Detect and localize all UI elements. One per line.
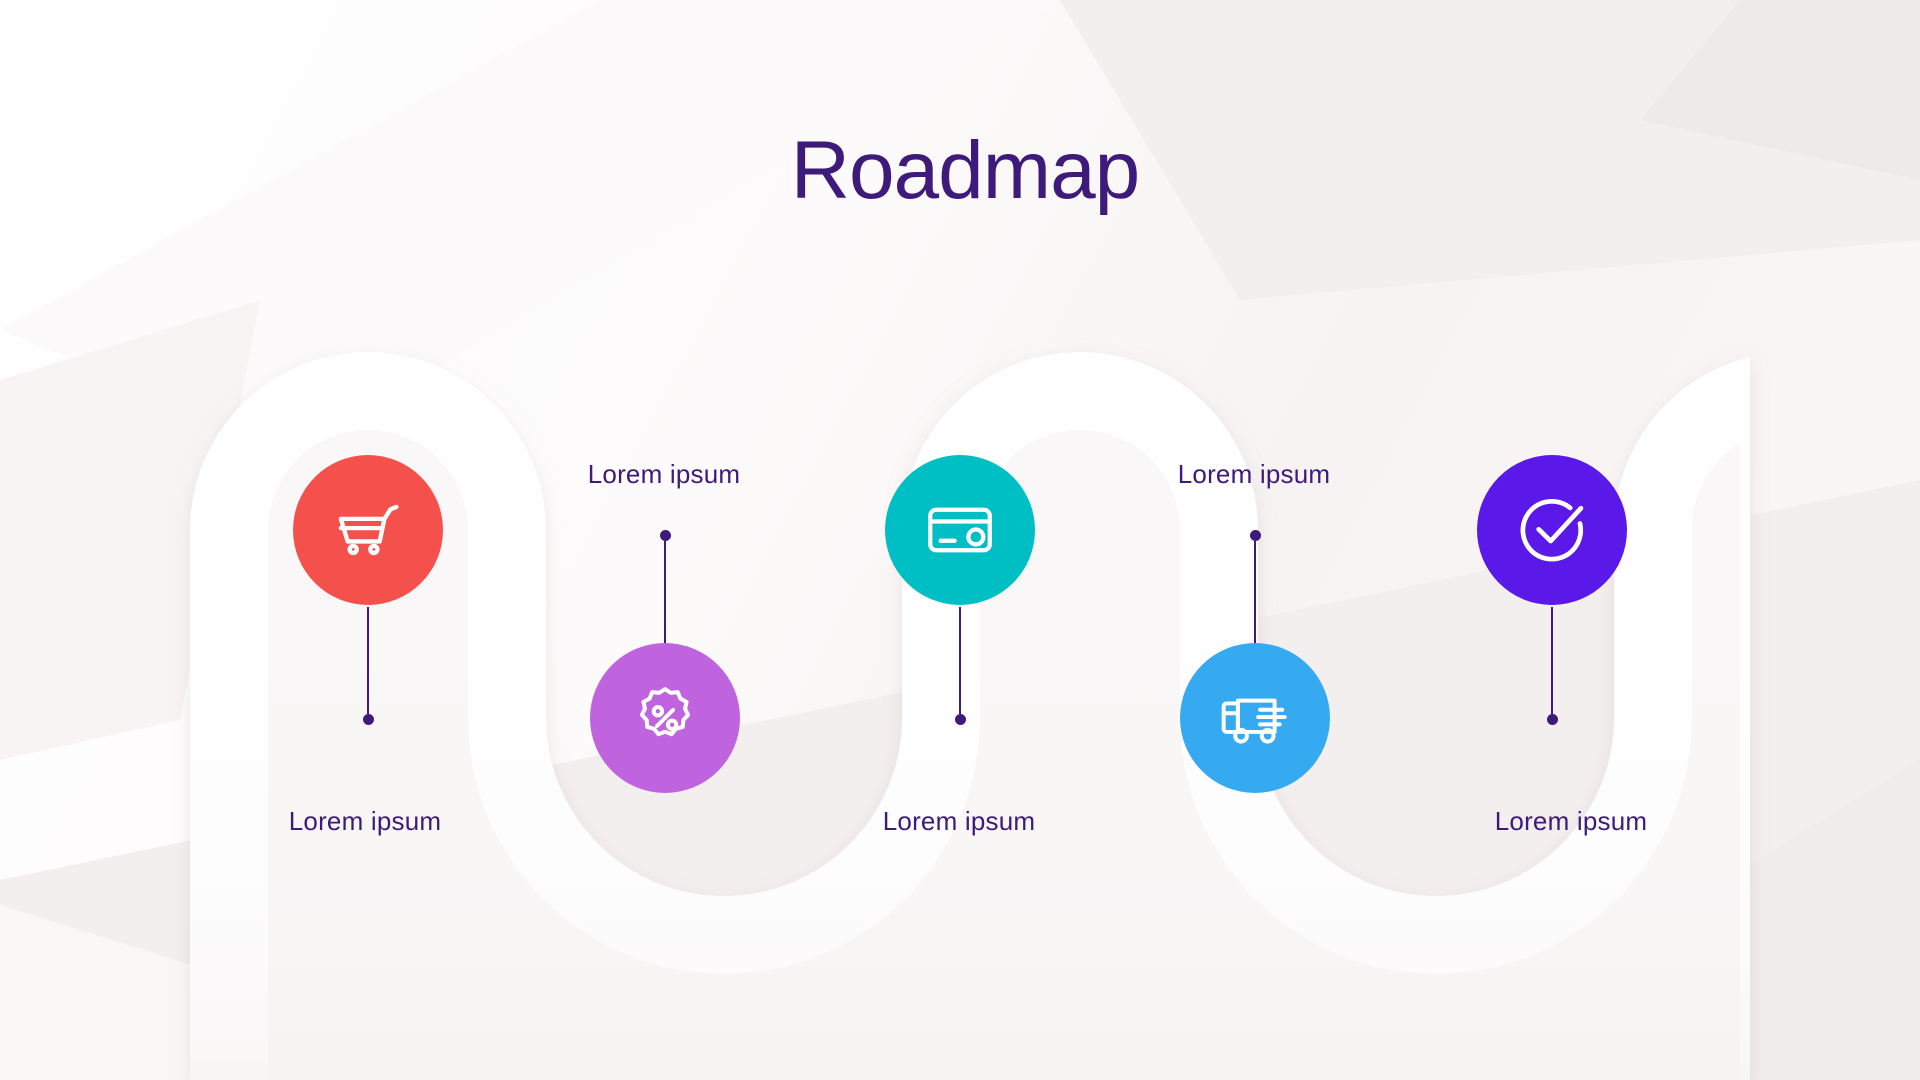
connector-stem [959,607,961,714]
connector-5 [1546,607,1558,725]
step-label-5: Lorem ipsum [1495,806,1647,837]
connector-4 [1249,530,1261,652]
step-label-3: Lorem ipsum [883,806,1035,837]
step-label-1: Lorem ipsum [289,806,441,837]
connector-stem [1551,607,1553,714]
shopping-cart-icon [331,493,405,567]
connector-dot [1547,714,1558,725]
credit-card-icon [922,492,998,568]
roadmap-slide: Roadmap Lorem ipsum Lorem ipsum [0,0,1920,1080]
step-node-5[interactable] [1477,455,1627,605]
step-node-1[interactable] [293,455,443,605]
connector-1 [362,607,374,725]
connector-dot [955,714,966,725]
discount-percent-badge-icon [628,681,702,755]
page-title: Roadmap [791,124,1140,218]
connector-stem [664,541,666,652]
step-node-4[interactable] [1180,643,1330,793]
connector-2 [659,530,671,652]
step-label-4: Lorem ipsum [1178,459,1330,490]
step-label-2: Lorem ipsum [588,459,740,490]
step-node-3[interactable] [885,455,1035,605]
step-node-2[interactable] [590,643,740,793]
connector-3 [954,607,966,725]
connector-dot [1250,530,1261,541]
connector-stem [1254,541,1256,652]
delivery-truck-icon [1217,680,1293,756]
connector-dot [363,714,374,725]
check-circle-icon [1513,491,1591,569]
connector-dot [660,530,671,541]
connector-stem [367,607,369,714]
